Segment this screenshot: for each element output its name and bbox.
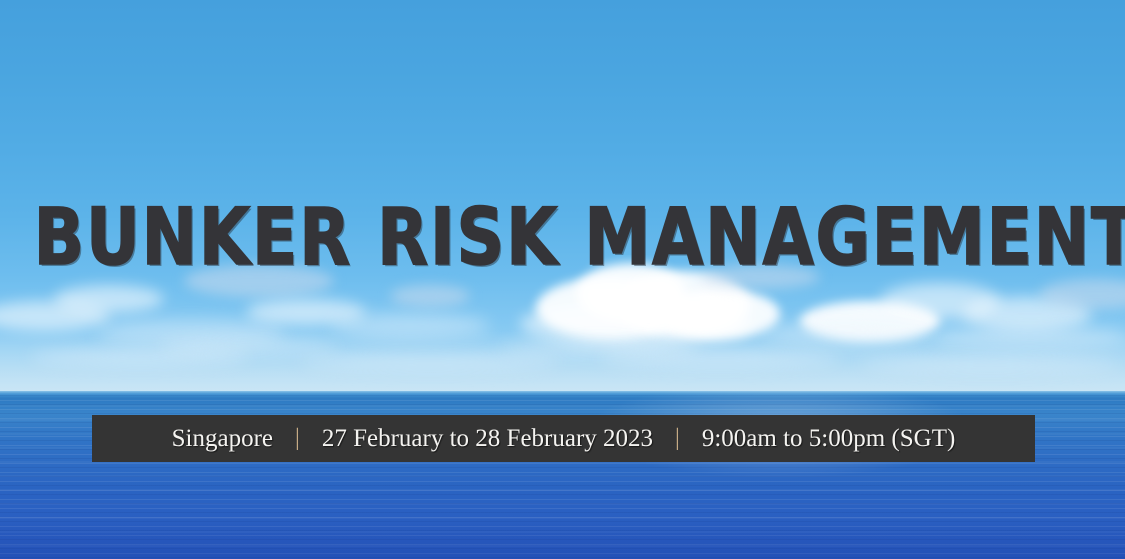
event-details-row: Singapore | 27 February to 28 February 2… xyxy=(172,425,956,452)
cloud-shape xyxy=(600,351,840,367)
cloud-shape xyxy=(330,313,490,339)
cloud-shape xyxy=(930,325,1125,349)
detail-separator-2: | xyxy=(653,425,702,452)
event-time: 9:00am to 5:00pm (SGT) xyxy=(702,425,955,452)
ocean-depth-shade xyxy=(0,513,1125,559)
page-title: BUNKER RISK MANAGEMENT xyxy=(34,198,1092,278)
cloud-shape xyxy=(300,355,560,369)
cloud-shape xyxy=(54,285,164,313)
event-location: Singapore xyxy=(172,425,273,452)
event-details-bar: Singapore | 27 February to 28 February 2… xyxy=(92,415,1035,462)
event-dates: 27 February to 28 February 2023 xyxy=(322,425,653,452)
cloud-shape xyxy=(860,357,1120,371)
cloud-shape xyxy=(390,285,470,307)
cloud-shape xyxy=(760,321,930,345)
event-banner: BUNKER RISK MANAGEMENT Singapore | 27 Fe… xyxy=(0,0,1125,559)
cloud-shape xyxy=(30,349,250,365)
detail-separator-1: | xyxy=(273,425,322,452)
